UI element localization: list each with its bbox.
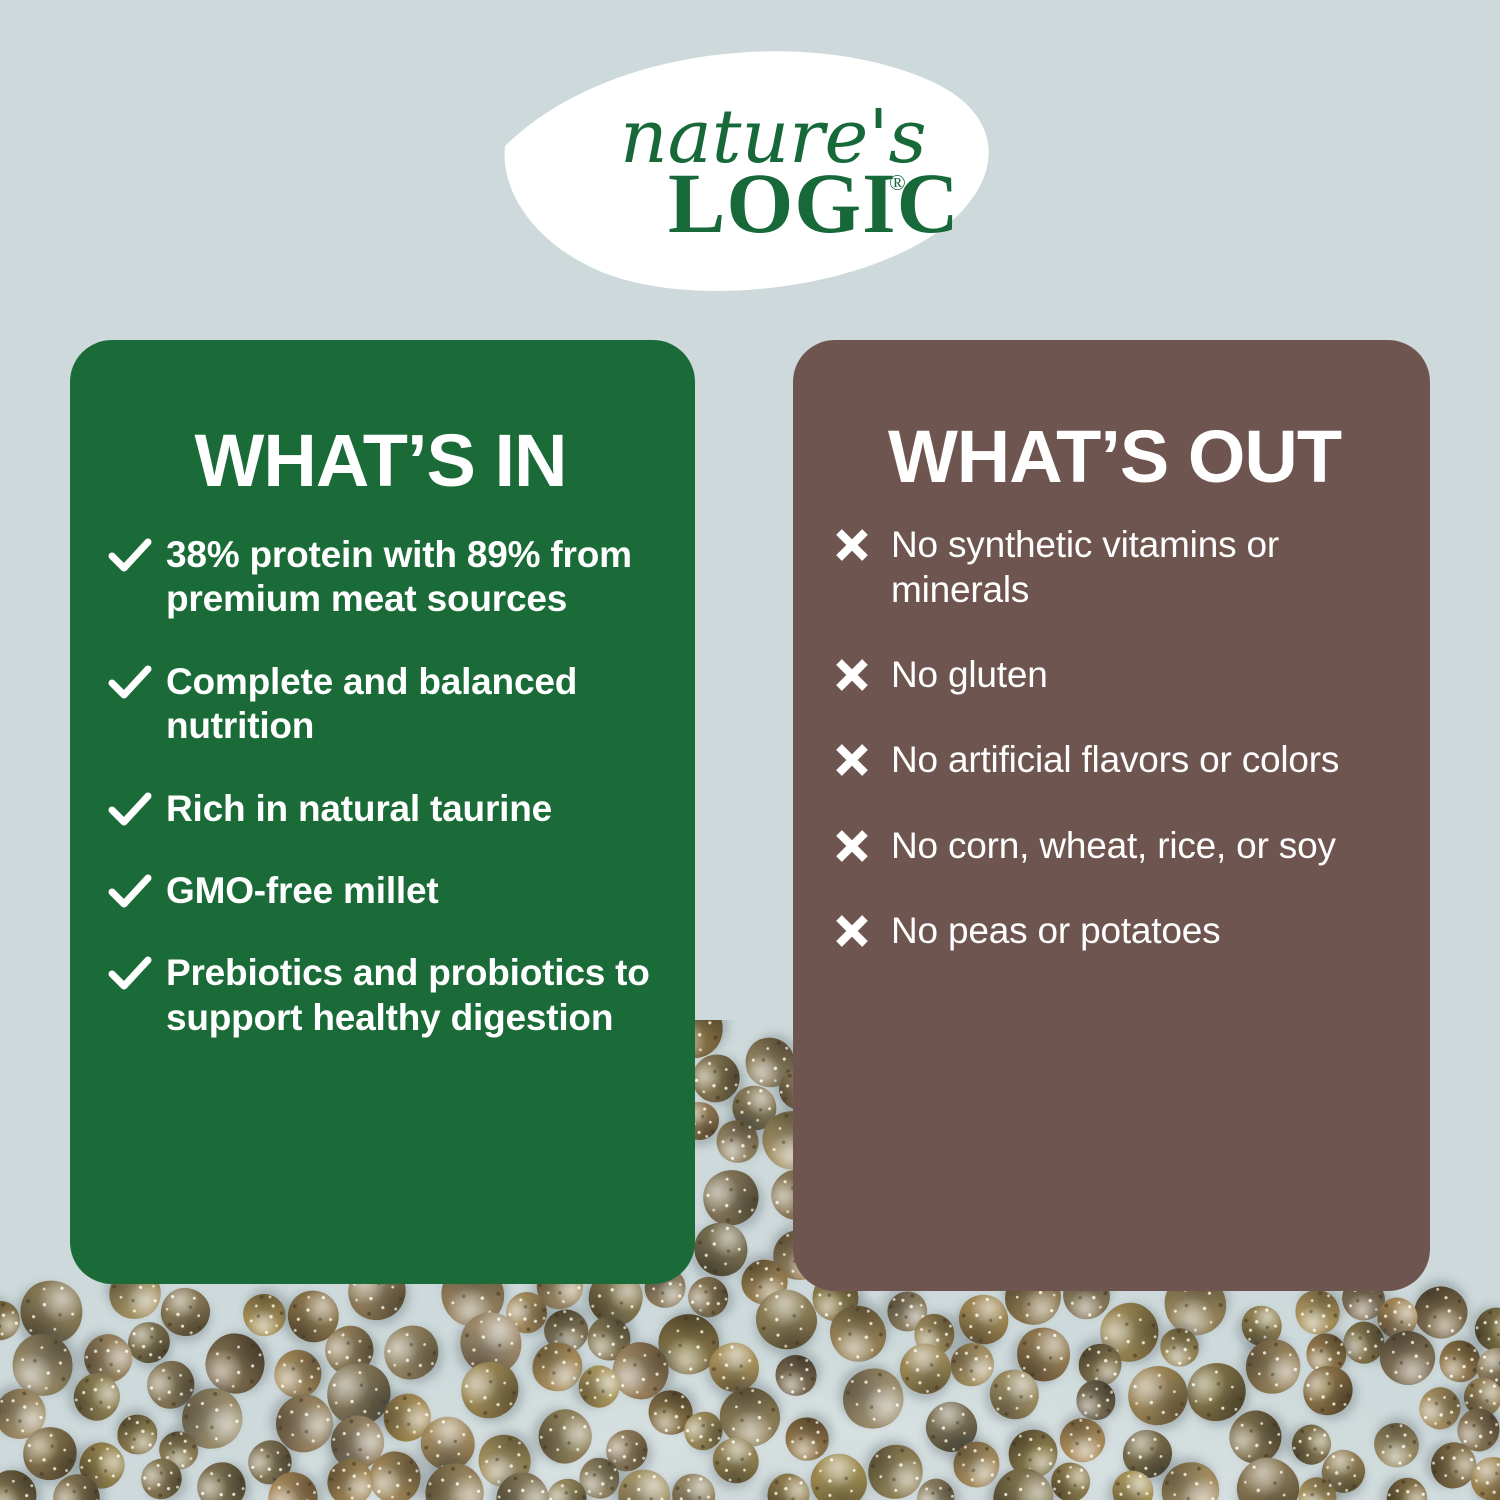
list-item: No peas or potatoes — [833, 908, 1412, 953]
check-icon — [108, 869, 166, 911]
kibble-piece — [667, 1468, 720, 1500]
x-icon — [833, 908, 891, 950]
list-item-label: 38% protein with 89% from premium meat s… — [166, 533, 681, 622]
kibble-piece — [117, 1415, 157, 1455]
list-item: GMO-free millet — [108, 869, 681, 913]
kibble-piece — [765, 1471, 812, 1500]
kibble-piece — [1076, 1381, 1115, 1421]
kibble-piece — [1378, 1469, 1435, 1500]
list-item: Rich in natural taurine — [108, 787, 681, 831]
list-item-label: Complete and balanced nutrition — [166, 660, 681, 749]
kibble-piece — [1236, 1330, 1311, 1404]
list-item-label: No synthetic vitamins or minerals — [891, 522, 1412, 612]
brand-logo: nature's LOGIC ® — [492, 46, 1002, 308]
check-icon — [108, 660, 166, 702]
panel-whats-out: WHAT’S OUT No synthetic vitamins or mine… — [793, 340, 1430, 1291]
kibble-piece — [1050, 1462, 1091, 1500]
kibble-piece — [188, 1453, 254, 1500]
kibble-piece — [1121, 1358, 1196, 1432]
panel-whats-in-list: 38% protein with 89% from premium meat s… — [108, 533, 681, 1040]
kibble-piece — [1295, 1358, 1361, 1423]
list-item: Complete and balanced nutrition — [108, 660, 681, 749]
list-item-label: No artificial flavors or colors — [891, 737, 1339, 782]
list-item-label: No peas or potatoes — [891, 908, 1220, 953]
list-item: No artificial flavors or colors — [833, 737, 1412, 782]
logo-registered-icon: ® — [889, 170, 906, 195]
check-icon — [108, 787, 166, 829]
list-item-label: GMO-free millet — [166, 869, 439, 913]
kibble-piece — [0, 1470, 37, 1500]
logo-block-text: LOGIC — [668, 155, 960, 251]
panel-whats-in-heading: WHAT’S IN — [70, 424, 695, 498]
kibble-piece — [1365, 1414, 1428, 1477]
x-icon — [833, 522, 891, 564]
list-item: Prebiotics and probiotics to support hea… — [108, 951, 681, 1040]
kibble-piece — [769, 1348, 824, 1403]
x-icon — [833, 737, 891, 779]
panel-whats-out-heading: WHAT’S OUT — [793, 420, 1430, 494]
list-item: No corn, wheat, rice, or soy — [833, 823, 1412, 868]
kibble-piece — [1054, 1412, 1112, 1470]
list-item: No synthetic vitamins or minerals — [833, 522, 1412, 612]
list-item: 38% protein with 89% from premium meat s… — [108, 533, 681, 622]
x-icon — [833, 823, 891, 865]
panel-whats-out-list: No synthetic vitamins or minerals No glu… — [833, 522, 1412, 993]
list-item-label: No gluten — [891, 652, 1048, 697]
check-icon — [108, 951, 166, 993]
check-icon — [108, 533, 166, 575]
list-item-label: No corn, wheat, rice, or soy — [891, 823, 1336, 868]
panel-whats-in: WHAT’S IN 38% protein with 89% from prem… — [70, 340, 695, 1284]
list-item-label: Rich in natural taurine — [166, 787, 552, 831]
list-item-label: Prebiotics and probiotics to support hea… — [166, 951, 681, 1040]
product-feature-graphic: nature's LOGIC ® WHAT’S IN 38% protein w… — [0, 0, 1500, 1500]
x-icon — [833, 652, 891, 694]
list-item: No gluten — [833, 652, 1412, 697]
kibble-piece — [451, 1351, 529, 1428]
